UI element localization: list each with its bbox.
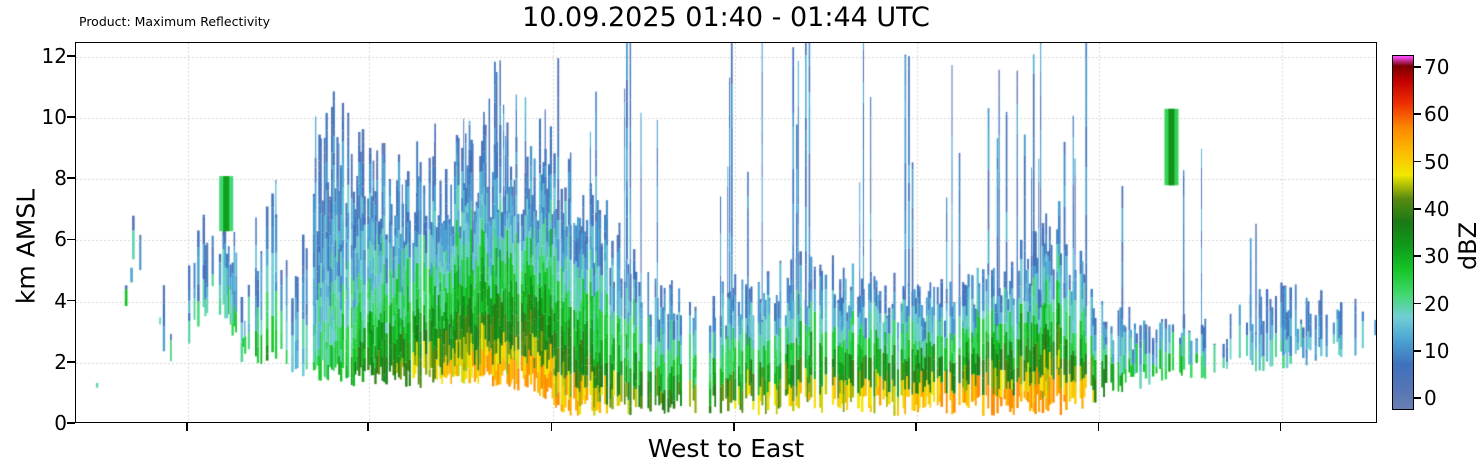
y-tick-label: 8 bbox=[54, 166, 67, 190]
colorbar-tick-label: 30 bbox=[1424, 244, 1449, 268]
x-tick-mark bbox=[551, 423, 553, 431]
y-tick-mark bbox=[67, 177, 75, 179]
colorbar-tick-mark bbox=[1414, 66, 1421, 68]
plot-area[interactable] bbox=[75, 42, 1377, 423]
x-tick-mark bbox=[186, 423, 188, 431]
y-tick-mark bbox=[67, 239, 75, 241]
colorbar-tick-mark bbox=[1414, 208, 1421, 210]
colorbar-tick-mark bbox=[1414, 350, 1421, 352]
colorbar-tick-mark bbox=[1414, 113, 1421, 115]
product-annotation: Product: Maximum Reflectivity bbox=[79, 14, 270, 29]
colorbar-tick-label: 40 bbox=[1424, 197, 1449, 221]
page-title: 10.09.2025 01:40 - 01:44 UTC bbox=[75, 2, 1377, 33]
colorbar-label: dBZ bbox=[1454, 166, 1482, 326]
y-tick-label: 2 bbox=[54, 350, 67, 374]
x-tick-mark bbox=[733, 423, 735, 431]
x-tick-mark bbox=[1098, 423, 1100, 431]
radar-cross-section-figure: 10.09.2025 01:40 - 01:44 UTC Product: Ma… bbox=[0, 0, 1482, 470]
y-tick-mark bbox=[67, 361, 75, 363]
colorbar-gradient bbox=[1393, 56, 1414, 410]
y-tick-mark bbox=[67, 55, 75, 57]
x-tick-mark bbox=[915, 423, 917, 431]
x-tick-mark bbox=[367, 423, 369, 431]
y-axis-label: km AMSL bbox=[12, 137, 41, 357]
y-tick-label: 12 bbox=[42, 44, 67, 68]
colorbar-tick-label: 60 bbox=[1424, 102, 1449, 126]
reflectivity-heatmap bbox=[76, 43, 1377, 423]
y-tick-label: 0 bbox=[54, 411, 67, 435]
colorbar-tick-label: 50 bbox=[1424, 150, 1449, 174]
colorbar[interactable] bbox=[1392, 55, 1414, 410]
colorbar-tick-mark bbox=[1414, 303, 1421, 305]
colorbar-tick-label: 70 bbox=[1424, 55, 1449, 79]
y-tick-label: 4 bbox=[54, 289, 67, 313]
colorbar-tick-label: 10 bbox=[1424, 339, 1449, 363]
y-tick-label: 6 bbox=[54, 227, 67, 251]
y-tick-mark bbox=[67, 300, 75, 302]
colorbar-tick-mark bbox=[1414, 397, 1421, 399]
colorbar-tick-mark bbox=[1414, 161, 1421, 163]
y-tick-label: 10 bbox=[42, 105, 67, 129]
colorbar-tick-mark bbox=[1414, 255, 1421, 257]
colorbar-tick-label: 0 bbox=[1424, 386, 1437, 410]
colorbar-tick-label: 20 bbox=[1424, 292, 1449, 316]
x-axis-label: West to East bbox=[75, 434, 1377, 463]
y-tick-mark bbox=[67, 422, 75, 424]
y-tick-mark bbox=[67, 116, 75, 118]
x-tick-mark bbox=[1280, 423, 1282, 431]
